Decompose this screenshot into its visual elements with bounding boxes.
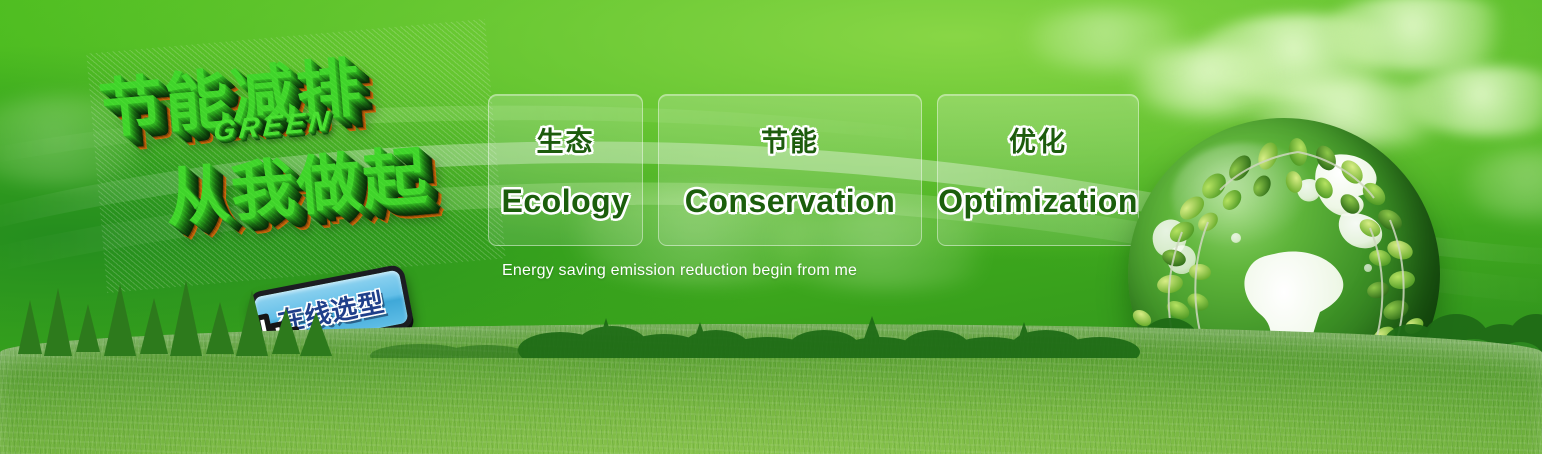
cloud-icon — [1318, 0, 1528, 72]
feature-card-ecology[interactable]: 生态 Ecology — [488, 94, 643, 246]
feature-card-title-en: Conservation — [685, 183, 895, 220]
grass-field-icon — [0, 324, 1542, 454]
cloud-icon — [1128, 44, 1298, 116]
feature-card-title-cn: 节能 — [761, 120, 819, 159]
grass-texture — [0, 324, 1542, 454]
feature-card-title-en: Ecology — [502, 183, 630, 220]
feature-card-title-en: Optimization — [938, 183, 1138, 220]
feature-card-list: 生态 Ecology 节能 Conservation 优化 Optimizati… — [488, 94, 1139, 246]
banner-tagline: Energy saving emission reduction begin f… — [502, 262, 857, 280]
cloud-icon — [1460, 150, 1542, 220]
feature-card-conservation[interactable]: 节能 Conservation — [658, 94, 922, 246]
feature-card-optimization[interactable]: 优化 Optimization — [937, 94, 1139, 246]
feature-card-title-cn: 生态 — [537, 120, 595, 159]
banner-logo: 节能减排 GREEN 从我做起 — [86, 19, 505, 293]
green-hero-banner: 节能减排 GREEN 从我做起 在线选型 生态 Ecology 节能 Conse… — [0, 0, 1542, 454]
cloud-icon — [1020, 8, 1210, 70]
feature-card-title-cn: 优化 — [1009, 120, 1067, 159]
cloud-icon — [1190, 14, 1420, 100]
